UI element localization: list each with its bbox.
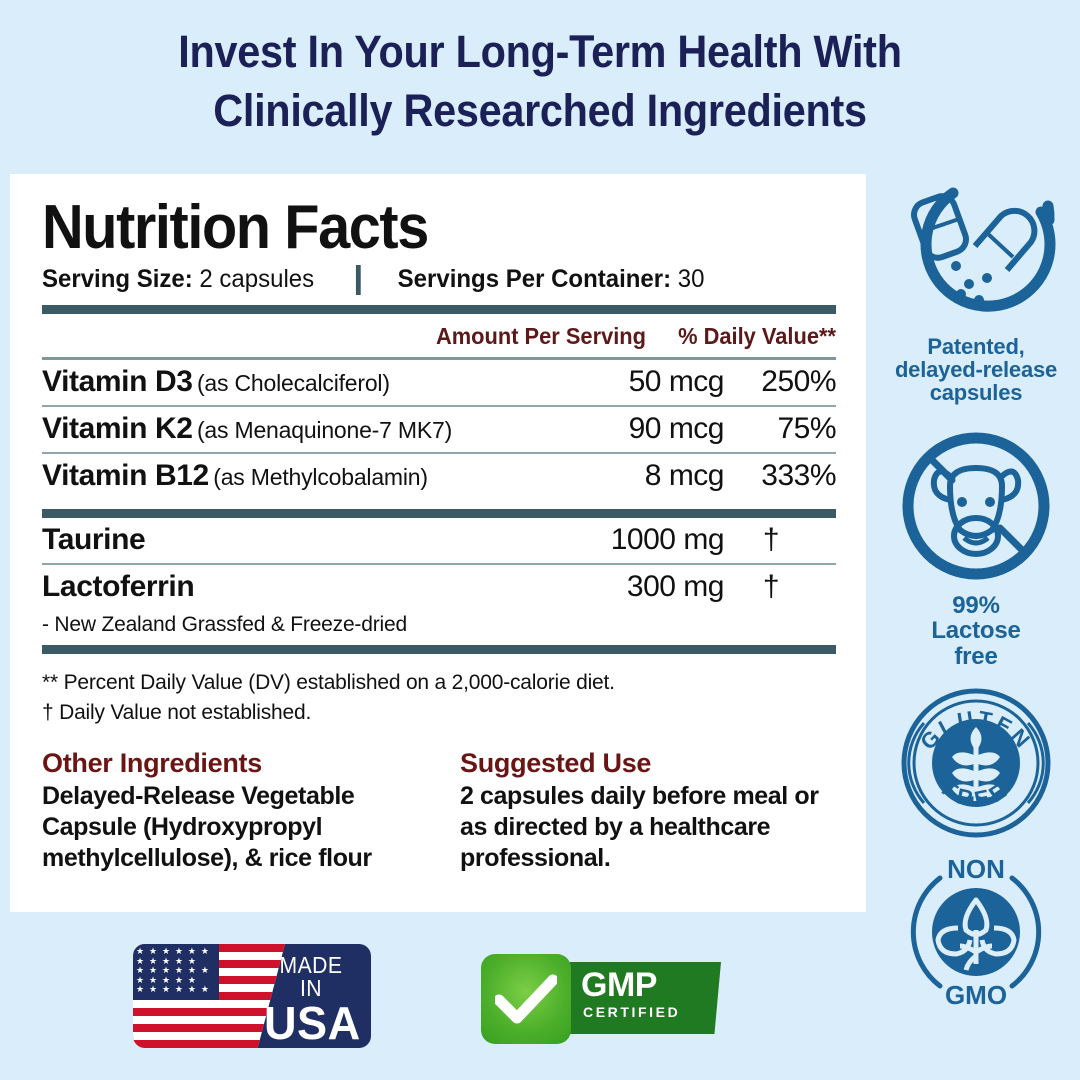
serving-size: Serving Size: 2 capsules: [42, 265, 314, 294]
servings-per-container: Servings Per Container: 30: [398, 265, 705, 294]
suggested-use-heading: Suggested Use: [460, 748, 836, 779]
other-ingredients-block: Other Ingredients Delayed-Release Vegeta…: [42, 748, 418, 874]
usa-text: USA: [264, 1000, 358, 1047]
nutrient-source: (as Cholecalciferol): [197, 370, 390, 396]
badge-gluten-free: GLUTEN FREE: [872, 683, 1080, 848]
table-row: Taurine 1000 mg †: [42, 518, 836, 563]
table-row: Vitamin D3 (as Cholecalciferol) 50 mcg 2…: [42, 360, 836, 405]
nutrient-amount: 1000 mg: [538, 523, 724, 557]
nutrient-daily-value: 250%: [724, 365, 836, 399]
table-row: Vitamin K2 (as Menaquinone-7 MK7) 90 mcg…: [42, 407, 836, 452]
seal-made-in-usa: ★ ★ ★ ★ ★ ★★ ★ ★ ★ ★★ ★ ★ ★ ★ ★★ ★ ★ ★ ★…: [133, 944, 371, 1048]
other-ingredients-text: Delayed-Release Vegetable Capsule (Hydro…: [42, 781, 418, 874]
badge-non-gmo: NON GMO: [872, 852, 1080, 1017]
vertical-divider: [356, 265, 361, 295]
badge-patented-capsules: Patented, delayed-release capsules: [872, 176, 1080, 404]
nutrient-name: Vitamin B12 (as Methylcobalamin): [42, 459, 538, 493]
headline-line-2: Clinically Researched Ingredients: [43, 81, 1037, 140]
badge-lactose-free: 99% Lactose free: [872, 426, 1080, 669]
nutrient-name: Taurine: [42, 523, 538, 557]
badge-label: 99% Lactose free: [872, 593, 1080, 669]
serving-info-row: Serving Size: 2 capsules Servings Per Co…: [42, 265, 804, 295]
servings-per-container-label: Servings Per Container:: [398, 265, 671, 293]
suggested-use-text: 2 capsules daily before meal or as direc…: [460, 781, 836, 874]
column-header-amount: Amount Per Serving: [407, 323, 646, 350]
nutrient-name-main: Vitamin K2: [42, 412, 193, 445]
certification-seals: ★ ★ ★ ★ ★ ★★ ★ ★ ★ ★★ ★ ★ ★ ★ ★★ ★ ★ ★ ★…: [0, 928, 866, 1080]
divider-bar-top: [42, 305, 836, 314]
no-cow-icon: [896, 426, 1056, 586]
footnote-daily-value: ** Percent Daily Value (DV) established …: [42, 668, 836, 698]
nutrient-name-main: Vitamin B12: [42, 459, 209, 492]
badge-label-line-2: Lactose: [872, 618, 1080, 643]
nutrient-amount: 300 mg: [538, 570, 724, 604]
column-header-daily-value: % Daily Value**: [646, 323, 836, 350]
badge-label-line-1: Patented,: [872, 335, 1080, 358]
product-infographic: Invest In Your Long-Term Health With Cli…: [0, 0, 1080, 1080]
nutrient-source: (as Menaquinone-7 MK7): [197, 417, 452, 443]
badge-label-line-3: capsules: [872, 381, 1080, 404]
nutrient-name-main: Vitamin D3: [42, 365, 193, 398]
nutrition-facts-panel: Nutrition Facts Serving Size: 2 capsules…: [10, 174, 866, 912]
bottom-columns: Other Ingredients Delayed-Release Vegeta…: [42, 728, 836, 874]
footnote-dagger: † Daily Value not established.: [42, 698, 836, 728]
badge-label-line-2: delayed-release: [872, 358, 1080, 381]
sprout-icon: NON GMO: [896, 852, 1056, 1012]
page-title: Invest In Your Long-Term Health With Cli…: [43, 22, 1037, 141]
suggested-use-block: Suggested Use 2 capsules daily before me…: [460, 748, 836, 874]
badge-label-line-1: 99%: [872, 593, 1080, 618]
non-text: NON: [947, 854, 1005, 884]
servings-per-container-value: 30: [678, 265, 705, 293]
table-column-headers: Amount Per Serving % Daily Value**: [82, 314, 836, 357]
gmp-banner: GMP CERTIFIED: [557, 962, 721, 1034]
badge-label: Patented, delayed-release capsules: [872, 335, 1080, 404]
table-row: Vitamin B12 (as Methylcobalamin) 8 mcg 3…: [42, 454, 836, 499]
certified-text: CERTIFIED: [583, 1004, 680, 1020]
nutrient-amount: 90 mcg: [538, 412, 724, 446]
nutrition-facts-title: Nutrition Facts: [42, 198, 780, 259]
nutrient-name-main: Taurine: [42, 523, 145, 556]
nutrient-source: (as Methylcobalamin): [213, 464, 428, 490]
nutrient-name: Vitamin D3 (as Cholecalciferol): [42, 365, 538, 399]
nutrient-daily-value: †: [724, 523, 836, 557]
badge-label-line-3: free: [872, 644, 1080, 669]
made-in-text: MADE IN: [267, 954, 355, 1000]
nutrient-daily-value: †: [724, 570, 836, 604]
gmo-text: GMO: [945, 980, 1007, 1010]
capsule-icon: [891, 176, 1061, 326]
checkmark-icon: [481, 954, 571, 1044]
seal-gmp-certified: GMP CERTIFIED: [481, 954, 721, 1044]
serving-size-label: Serving Size:: [42, 265, 193, 293]
table-row: Lactoferrin 300 mg †: [42, 565, 836, 610]
footnotes: ** Percent Daily Value (DV) established …: [42, 654, 836, 728]
ingredient-sub-note: - New Zealand Grassfed & Freeze-dried: [42, 610, 836, 645]
nutrient-amount: 50 mcg: [538, 365, 724, 399]
divider-bar-bottom: [42, 645, 836, 654]
badge-column: Patented, delayed-release capsules 99%: [872, 176, 1080, 1017]
nutrient-name-main: Lactoferrin: [42, 570, 194, 603]
nutrient-amount: 8 mcg: [538, 459, 724, 493]
other-ingredients-heading: Other Ingredients: [42, 748, 418, 779]
serving-size-value: 2 capsules: [199, 265, 314, 293]
divider-bar-middle: [42, 509, 836, 518]
wheat-icon: GLUTEN FREE: [896, 683, 1056, 843]
nutrient-name: Vitamin K2 (as Menaquinone-7 MK7): [42, 412, 538, 446]
headline-line-1: Invest In Your Long-Term Health With: [43, 22, 1037, 81]
gmp-text: GMP: [581, 966, 657, 1005]
nutrient-daily-value: 75%: [724, 412, 836, 446]
nutrient-name: Lactoferrin: [42, 570, 538, 604]
nutrient-daily-value: 333%: [724, 459, 836, 493]
